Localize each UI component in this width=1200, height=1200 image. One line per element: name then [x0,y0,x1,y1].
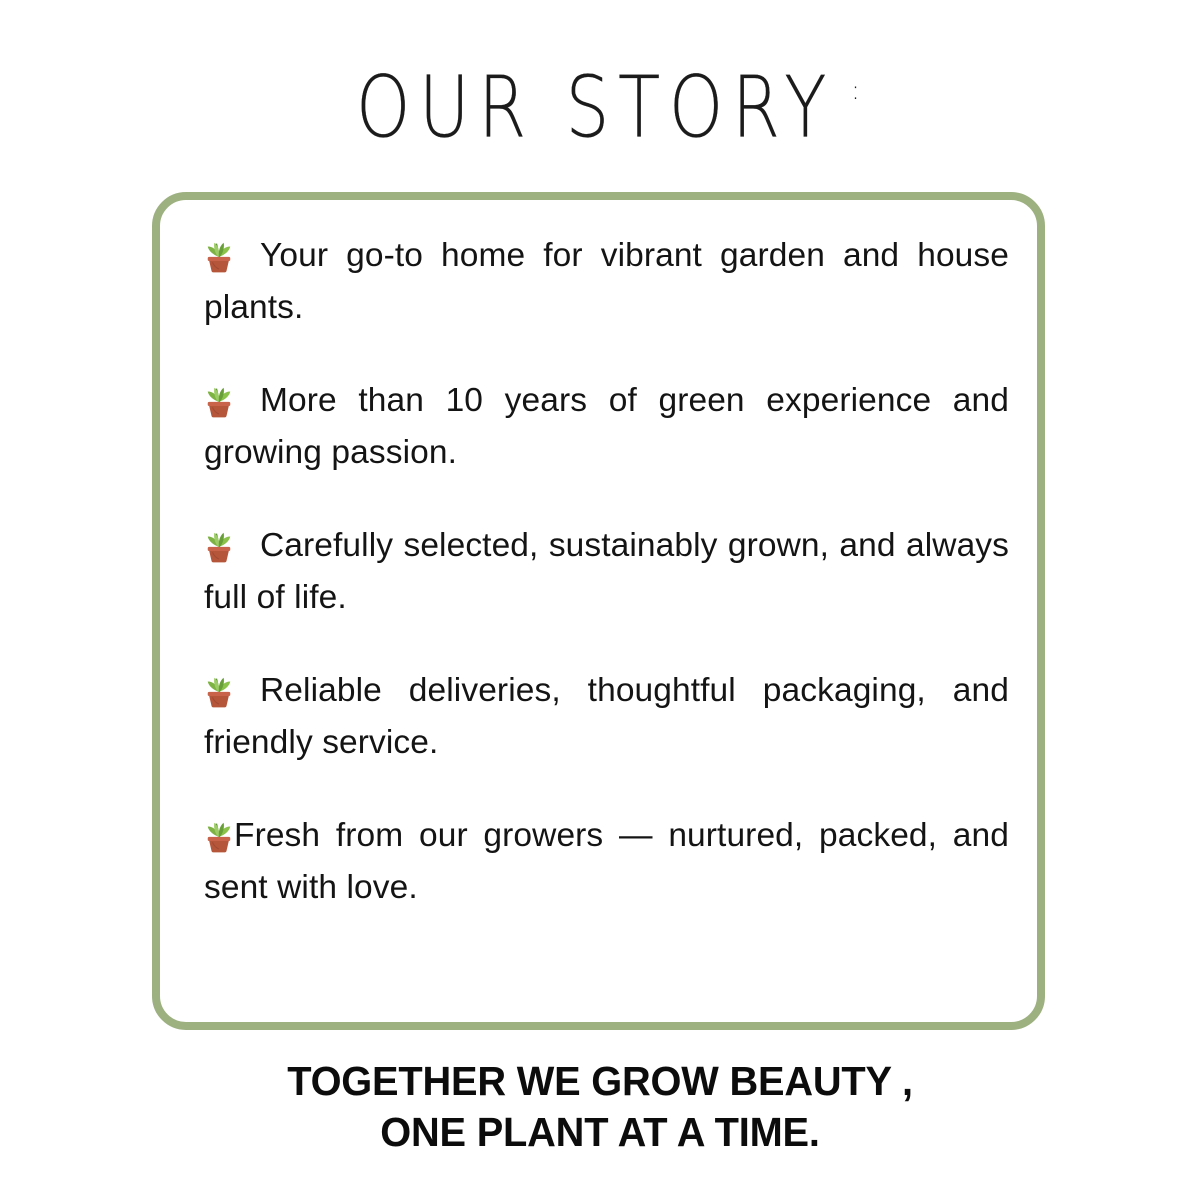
list-item-text: More than 10 years of green experience a… [204,382,1009,471]
page-title-text: OUR STORY [356,65,835,150]
story-page: OUR STORY: Your go-to home for vib [0,0,1200,1200]
list-item: Reliable deliveries, thoughtful packagin… [204,665,1009,769]
page-title: OUR STORY: [0,62,1200,152]
potted-plant-icon [204,527,234,561]
tagline: TOGETHER WE GROW BEAUTY , ONE PLANT AT A… [18,1056,1182,1158]
list-item: Carefully selected, sustainably grown, a… [204,520,1009,624]
story-list: Your go-to home for vibrant garden and h… [204,230,1009,914]
list-item: Fresh from our growers — nurtured, packe… [204,810,1009,914]
potted-plant-icon [204,817,234,851]
page-title-colon: : [851,76,860,106]
tagline-line-1: TOGETHER WE GROW BEAUTY , [18,1056,1182,1107]
potted-plant-icon [204,237,234,271]
list-item: Your go-to home for vibrant garden and h… [204,230,1009,334]
list-item-text: Your go-to home for vibrant garden and h… [204,237,1009,326]
potted-plant-icon [204,672,234,706]
potted-plant-icon [204,382,234,416]
list-item-text: Fresh from our growers — nurtured, packe… [204,817,1009,906]
tagline-line-2: ONE PLANT AT A TIME. [18,1107,1182,1158]
list-item: More than 10 years of green experience a… [204,375,1009,479]
story-card: Your go-to home for vibrant garden and h… [152,192,1045,1030]
list-item-text: Reliable deliveries, thoughtful packagin… [204,672,1009,761]
list-item-text: Carefully selected, sustainably grown, a… [204,527,1009,616]
